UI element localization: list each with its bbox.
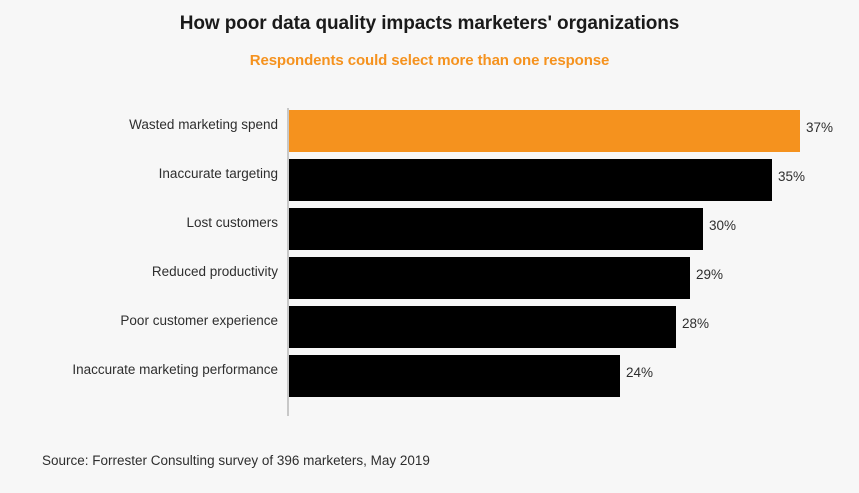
bar-row: Inaccurate marketing performance24% (0, 349, 859, 398)
bar-value-label: 35% (778, 169, 805, 184)
bar-value-label: 24% (626, 365, 653, 380)
bar-series: Wasted marketing spend37%Inaccurate targ… (0, 104, 859, 416)
plot-area: Wasted marketing spend37%Inaccurate targ… (0, 104, 859, 416)
chart-title: How poor data quality impacts marketers'… (0, 13, 859, 35)
bar (289, 306, 676, 348)
bar-value-label: 28% (682, 316, 709, 331)
bar (289, 257, 690, 299)
bar-row: Wasted marketing spend37% (0, 104, 859, 153)
bar-category-label: Poor customer experience (0, 313, 278, 328)
bar-row: Lost customers30% (0, 202, 859, 251)
bar (289, 208, 703, 250)
bar-value-label: 29% (696, 267, 723, 282)
chart-subtitle: Respondents could select more than one r… (0, 52, 859, 69)
bar-category-label: Lost customers (0, 215, 278, 230)
bar-value-label: 30% (709, 218, 736, 233)
bar-category-label: Wasted marketing spend (0, 117, 278, 132)
bar-category-label: Reduced productivity (0, 264, 278, 279)
bar (289, 110, 800, 152)
bar-value-label: 37% (806, 120, 833, 135)
bar-chart: How poor data quality impacts marketers'… (0, 0, 859, 493)
bar-row: Reduced productivity29% (0, 251, 859, 300)
chart-source-note: Source: Forrester Consulting survey of 3… (42, 453, 430, 468)
bar-row: Poor customer experience28% (0, 300, 859, 349)
bar-category-label: Inaccurate targeting (0, 166, 278, 181)
bar-row: Inaccurate targeting35% (0, 153, 859, 202)
bar (289, 159, 772, 201)
bar-category-label: Inaccurate marketing performance (0, 362, 278, 377)
bar (289, 355, 620, 397)
